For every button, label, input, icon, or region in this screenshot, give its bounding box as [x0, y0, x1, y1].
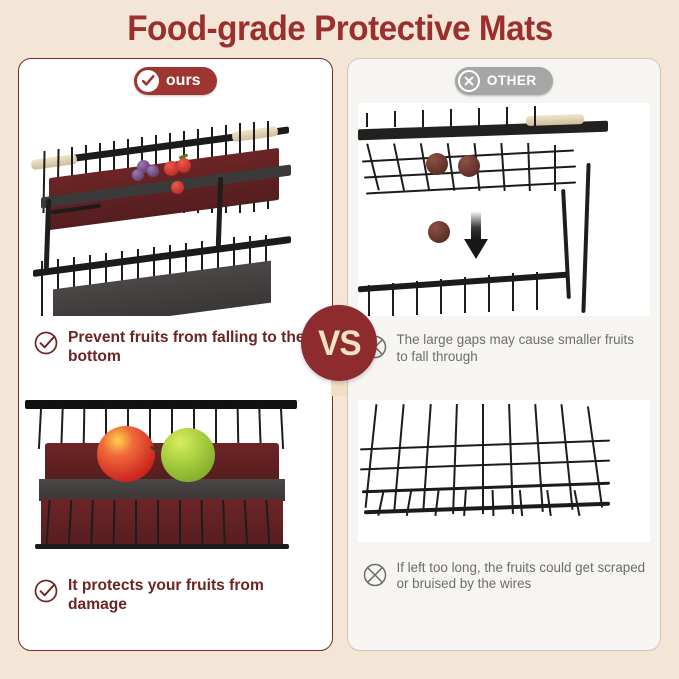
- fruit-bruised-pale: [410, 428, 468, 486]
- photo-other-top: [358, 103, 651, 316]
- badge-row-ours: ours: [19, 59, 332, 103]
- frame-upright-right: [561, 189, 571, 299]
- fruit-green-apple: [161, 428, 215, 482]
- caption-ours-top: Prevent fruits from falling to the botto…: [19, 328, 332, 366]
- caption-other-top: The large gaps may cause smaller fruits …: [348, 332, 661, 366]
- basket-shelf: [39, 479, 285, 501]
- caption-ours-bottom: It protects your fruits from damage: [19, 576, 332, 614]
- fruit-strawberry: [171, 181, 184, 194]
- badge-label-ours: ours: [166, 73, 201, 89]
- caption-other-bottom: If left too long, the fruits could get s…: [348, 560, 661, 594]
- photo-ours-bottom: [19, 380, 332, 560]
- wire-cross-1: [360, 439, 610, 450]
- basket-leg-right: [216, 177, 223, 247]
- caption-ours-top-text: Prevent fruits from falling to the botto…: [68, 328, 318, 366]
- vs-label: VS: [318, 326, 360, 361]
- page-header: Food-grade Protective Mats: [0, 0, 679, 58]
- badge-row-other: OTHER: [348, 59, 661, 103]
- fruit-small-round: [426, 153, 448, 175]
- badge-label-other: OTHER: [487, 74, 537, 88]
- photo-other-bottom: [358, 400, 651, 542]
- page-title: Food-grade Protective Mats: [127, 9, 553, 49]
- x-circle-icon: [362, 562, 388, 588]
- fruit-red-apple: [97, 426, 155, 482]
- fruit-grape: [147, 165, 159, 177]
- panel-other: OTHER: [347, 58, 662, 651]
- fruit-bruised-dull: [476, 434, 530, 488]
- frame-upright-far-right: [581, 163, 590, 313]
- check-circle-icon: [33, 330, 59, 356]
- fruit-falling: [428, 221, 450, 243]
- wire-cross-3: [362, 481, 610, 493]
- x-circle-icon: [458, 70, 480, 92]
- badge-other: OTHER: [455, 67, 553, 95]
- badge-ours: ours: [134, 67, 217, 95]
- fruit-small-round: [458, 155, 480, 177]
- basket-leg-left: [44, 199, 51, 269]
- fruit-grape: [132, 169, 144, 181]
- caption-other-top-text: The large gaps may cause smaller fruits …: [397, 332, 647, 366]
- panel-ours: ours: [18, 58, 333, 651]
- basket-rim: [25, 400, 297, 409]
- fruit-strawberry: [177, 158, 191, 173]
- check-circle-icon: [137, 70, 159, 92]
- check-circle-icon: [33, 578, 59, 604]
- photo-ours-top: [19, 103, 332, 316]
- caption-other-bottom-text: If left too long, the fruits could get s…: [397, 560, 647, 594]
- basket-bottom-rail: [35, 544, 289, 549]
- vs-badge: VS: [301, 305, 377, 381]
- caption-ours-bottom-text: It protects your fruits from damage: [68, 576, 318, 614]
